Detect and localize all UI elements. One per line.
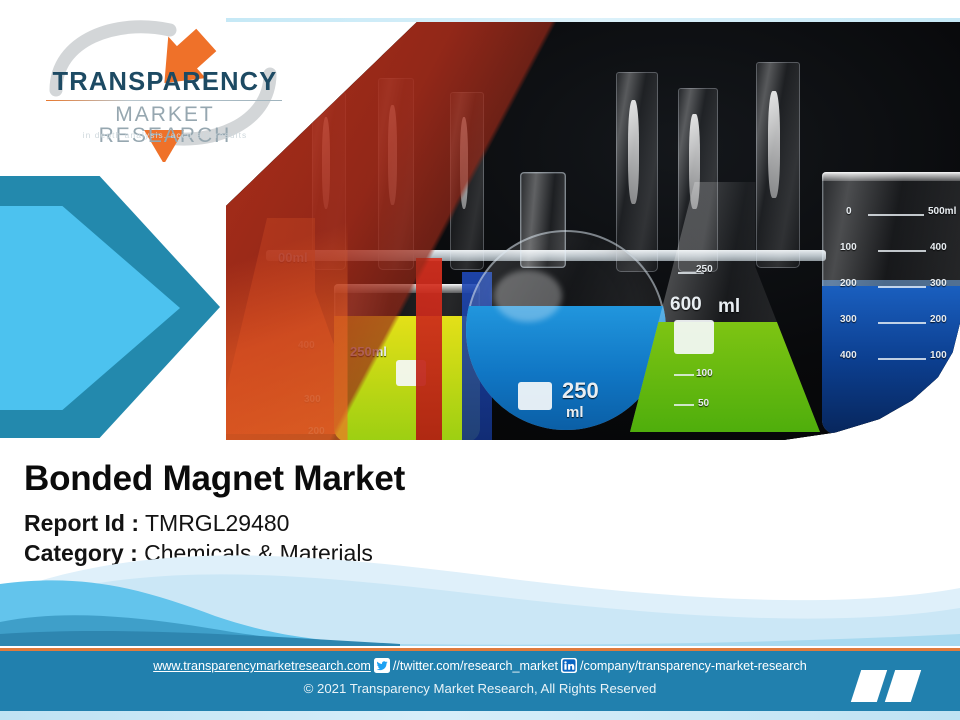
twitter-bird-icon[interactable] (374, 658, 390, 673)
website-link[interactable]: www.transparencymarketresearch.com (153, 659, 371, 673)
footer-bottom-strip (0, 711, 960, 720)
footer-links: www.transparencymarketresearch.com //twi… (0, 658, 960, 673)
footer-bar: www.transparencymarketresearch.com //twi… (0, 648, 960, 720)
slide-canvas: TRANSPARENCY MARKET RESEARCH in depth an… (0, 0, 960, 720)
footer-accent-rule (0, 648, 960, 651)
twitter-handle[interactable]: //twitter.com/research_market (393, 659, 558, 673)
hero-image: 00ml 400 300 200 250ml (226, 22, 960, 440)
quotation-mark-icon (856, 670, 930, 702)
linkedin-handle[interactable]: /company/transparency-market-research (580, 659, 807, 673)
copyright-text: © 2021 Transparency Market Research, All… (0, 681, 960, 696)
linkedin-icon[interactable] (561, 658, 577, 673)
decor-waves (0, 476, 960, 646)
